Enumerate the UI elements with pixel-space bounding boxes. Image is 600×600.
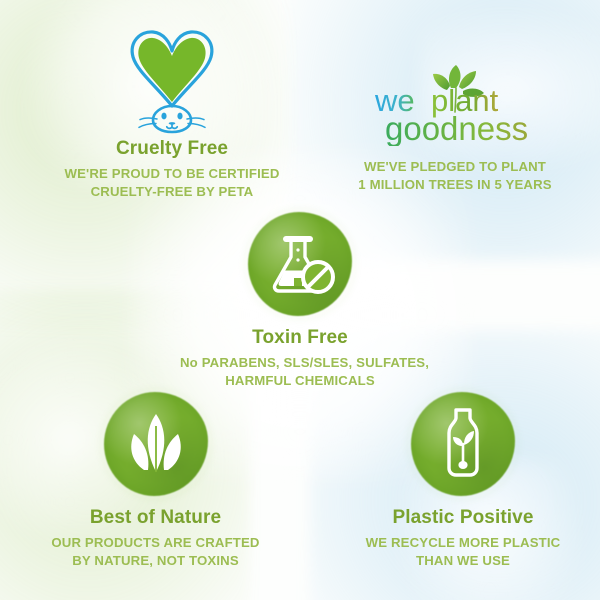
badge-heading: Cruelty Free [32, 138, 312, 160]
badge-subtext-line: CRUELTY-FREE BY PETA [91, 184, 254, 199]
badge-heading: Toxin Free [180, 327, 420, 349]
three-leaves-icon [104, 392, 208, 496]
badge-subtext-line: THAN WE USE [416, 553, 510, 568]
bottle-sprout-icon [411, 392, 515, 496]
badge-best-of-nature: Best of Nature OUR PRODUCTS ARE CRAFTED … [28, 392, 283, 570]
badge-subtext: WE'VE PLEDGED TO PLANT 1 MILLION TREES I… [330, 158, 580, 194]
badge-subtext-line: HARMFUL CHEMICALS [225, 373, 375, 388]
badge-subtext-line: WE'RE PROUD TO BE CERTIFIED [64, 166, 279, 181]
badge-subtext: WE'RE PROUD TO BE CERTIFIED CRUELTY-FREE… [32, 165, 312, 201]
badge-subtext-line: WE'VE PLEDGED TO PLANT [364, 159, 546, 174]
badge-we-plant-goodness: we plant goodness WE'VE PLEDGED TO PLANT… [330, 60, 580, 194]
infographic-canvas: Cruelty Free WE'RE PROUD TO BE CERTIFIED… [0, 0, 600, 600]
badge-plastic-positive: Plastic Positive WE RECYCLE MORE PLASTIC… [338, 392, 588, 570]
badge-subtext-line: OUR PRODUCTS ARE CRAFTED [51, 535, 259, 550]
icon-disc [411, 392, 515, 496]
badge-subtext: OUR PRODUCTS ARE CRAFTED BY NATURE, NOT … [28, 534, 283, 570]
we-plant-goodness-logo-icon: we plant goodness [355, 60, 555, 146]
badge-subtext: WE RECYCLE MORE PLASTIC THAN WE USE [338, 534, 588, 570]
badge-heading: Best of Nature [28, 507, 283, 529]
badge-subtext-line: WE RECYCLE MORE PLASTIC [366, 535, 561, 550]
badge-toxin-free: Toxin Free No PARABENS, SLS/SLES, SULFAT… [180, 212, 420, 390]
badge-subtext-line: BY NATURE, NOT TOXINS [72, 553, 239, 568]
badge-subtext: No PARABENS, SLS/SLES, SULFATES, HARMFUL… [180, 354, 420, 390]
icon-disc [248, 212, 352, 316]
badge-heading: Plastic Positive [338, 507, 588, 529]
badge-subtext-line: No PARABENS, SLS/SLES, SULFATES, [180, 355, 429, 370]
flask-no-entry-icon [248, 212, 352, 316]
badge-cruelty-free: Cruelty Free WE'RE PROUD TO BE CERTIFIED… [32, 26, 312, 201]
badge-subtext-line: 1 MILLION TREES IN 5 YEARS [358, 177, 551, 192]
logo-word-goodness: goodness [385, 110, 528, 146]
peta-bunny-heart-logo-icon [112, 26, 232, 138]
icon-disc [104, 392, 208, 496]
